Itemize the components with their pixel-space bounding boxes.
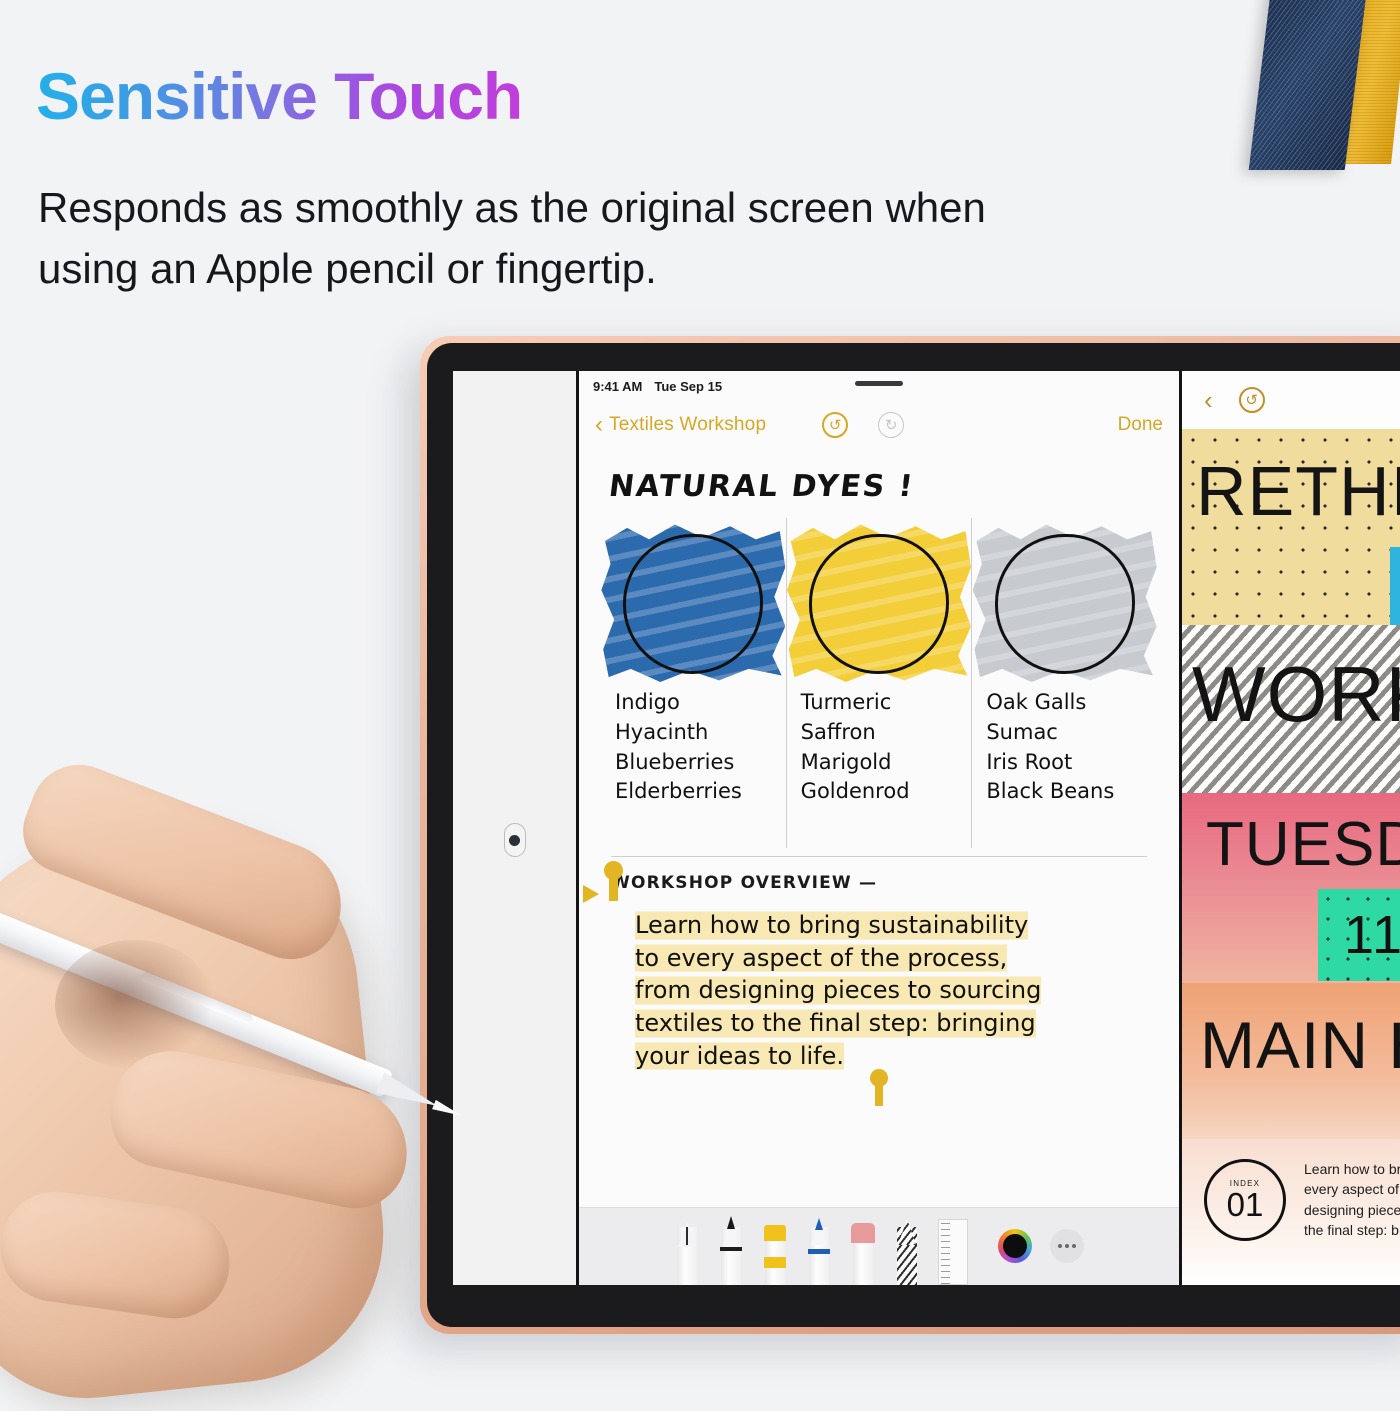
- page-subtitle: Responds as smoothly as the original scr…: [38, 178, 1078, 300]
- section-divider: [611, 856, 1147, 857]
- list-item: Elderberries: [615, 777, 786, 807]
- tuesday-text: TUESDAY: [1206, 809, 1400, 880]
- index-copy-line: Learn how to bring sustainability to: [1304, 1159, 1400, 1179]
- overview-line: textiles to the final step: bringing: [635, 1007, 1036, 1040]
- poster-nav-bar: ‹ ↺: [1182, 371, 1400, 429]
- work-block: WORK: [1182, 625, 1400, 793]
- palm: [0, 809, 398, 1411]
- list-item: Oak Galls: [986, 688, 1157, 718]
- color-picker-button[interactable]: [998, 1229, 1032, 1263]
- note-title[interactable]: Textiles Workshop: [609, 414, 766, 436]
- poster-app-pane: ‹ ↺ RETHINK WORK TUESDAY 11 M: [1179, 371, 1400, 1285]
- index-block: INDEX 01 Learn how to bring sustainabili…: [1182, 1139, 1400, 1285]
- index-copy-line: the final step: bringing your ideas to l…: [1304, 1220, 1400, 1240]
- overview-line: your ideas to life.: [635, 1040, 844, 1073]
- rethink-block: RETHINK: [1182, 429, 1400, 625]
- undo-icon[interactable]: ↺: [1239, 387, 1265, 413]
- tablet-screen: 9:41 AM Tue Sep 15 ‹ Textiles Workshop ↺…: [453, 371, 1400, 1285]
- oakgalls-circle: [987, 528, 1143, 678]
- tablet-device: 9:41 AM Tue Sep 15 ‹ Textiles Workshop ↺…: [420, 336, 1400, 1334]
- oakgalls-list: Oak Galls Sumac Iris Root Black Beans: [972, 688, 1157, 807]
- page-title: Sensitive Touch: [36, 58, 522, 134]
- undo-icon[interactable]: ↺: [822, 412, 848, 438]
- blue-accent-tab: [1390, 547, 1400, 625]
- pencil-tool[interactable]: [894, 1215, 920, 1285]
- work-text: WORK: [1192, 649, 1400, 740]
- index-badge-number: 01: [1227, 1188, 1264, 1221]
- fabric-swatch-decoration: [1270, 0, 1400, 174]
- overview-line: to every aspect of the process,: [635, 942, 1007, 975]
- arrow-marker-icon: [583, 885, 599, 903]
- rethink-text: RETHINK: [1196, 451, 1400, 531]
- ruler-tool[interactable]: [938, 1215, 968, 1285]
- done-button[interactable]: Done: [1118, 414, 1163, 436]
- swatch-row: Indigo Hyacinth Blueberries Elderberries: [601, 518, 1157, 848]
- tablet-bezel: 9:41 AM Tue Sep 15 ‹ Textiles Workshop ↺…: [427, 343, 1400, 1327]
- note-heading: NATURAL DYES !: [607, 469, 1159, 504]
- thumb: [101, 1040, 419, 1218]
- status-time: 9:41 AM: [593, 379, 642, 394]
- index-copy-line: designing pieces to sourcing textiles to: [1304, 1200, 1400, 1220]
- oakgalls-swatch: Oak Galls Sumac Iris Root Black Beans: [971, 518, 1157, 848]
- indigo-circle: [615, 528, 771, 678]
- knuckle-shadow: [55, 940, 215, 1070]
- fountain-pen-tool[interactable]: [674, 1215, 700, 1285]
- turmeric-circle: [801, 528, 957, 678]
- list-item: Marigold: [801, 748, 972, 778]
- mainhall-block: MAIN HALL: [1182, 983, 1400, 1139]
- index-copy: Learn how to bring sustainability to eve…: [1304, 1159, 1400, 1240]
- status-date: Tue Sep 15: [654, 379, 722, 394]
- turmeric-swatch: Turmeric Saffron Marigold Goldenrod: [786, 518, 972, 848]
- list-item: Iris Root: [986, 748, 1157, 778]
- chevron-left-icon[interactable]: ‹: [595, 413, 603, 437]
- list-item: Saffron: [801, 718, 972, 748]
- overview-line: Learn how to bring sustainability: [635, 909, 1028, 942]
- list-item: Turmeric: [801, 688, 972, 718]
- chevron-left-icon[interactable]: ‹: [1204, 385, 1213, 416]
- blue-pen-tool[interactable]: [806, 1215, 832, 1285]
- indigo-list: Indigo Hyacinth Blueberries Elderberries: [601, 688, 786, 807]
- camera-icon: [504, 823, 526, 857]
- device-side-strip: [453, 371, 579, 1285]
- date-chip: 11: [1318, 889, 1400, 981]
- date-chip-number: 11: [1344, 904, 1400, 966]
- list-item: Goldenrod: [801, 777, 972, 807]
- window-grabber[interactable]: [855, 381, 903, 386]
- pin-marker-icon: [609, 875, 618, 901]
- list-item: Sumac: [986, 718, 1157, 748]
- notes-app-pane: 9:41 AM Tue Sep 15 ‹ Textiles Workshop ↺…: [579, 371, 1179, 1285]
- note-canvas[interactable]: NATURAL DYES ! Indigo Hyacinth Blueberri…: [579, 449, 1179, 1285]
- index-badge: INDEX 01: [1204, 1159, 1286, 1241]
- list-item: Black Beans: [986, 777, 1157, 807]
- list-item: Indigo: [615, 688, 786, 718]
- drawing-toolbar: [579, 1207, 1179, 1285]
- overview-text: Learn how to bring sustainability to eve…: [635, 909, 1157, 1072]
- highlighter-tool[interactable]: [762, 1215, 788, 1285]
- index-copy-line: every aspect of the process, from: [1304, 1179, 1400, 1199]
- notes-nav-bar: ‹ Textiles Workshop ↺ ↻ Done: [579, 401, 1179, 449]
- list-item: Hyacinth: [615, 718, 786, 748]
- pen-tool[interactable]: [718, 1215, 744, 1285]
- tuesday-block: TUESDAY 11: [1182, 793, 1400, 983]
- middle-finger: [0, 1185, 237, 1326]
- eraser-tool[interactable]: [850, 1215, 876, 1285]
- pin-marker-icon: [875, 1082, 883, 1106]
- overview-label: WORKSHOP OVERVIEW —: [611, 873, 1157, 893]
- stylus-pencil: [0, 901, 470, 1133]
- overview-line: from designing pieces to sourcing: [635, 974, 1041, 1007]
- turmeric-list: Turmeric Saffron Marigold Goldenrod: [787, 688, 972, 807]
- more-options-button[interactable]: [1050, 1229, 1084, 1263]
- mainhall-text: MAIN HALL: [1200, 1007, 1400, 1083]
- redo-icon[interactable]: ↻: [878, 412, 904, 438]
- status-bar: 9:41 AM Tue Sep 15: [579, 371, 1179, 401]
- indigo-swatch: Indigo Hyacinth Blueberries Elderberries: [601, 518, 786, 848]
- index-finger: [11, 751, 359, 974]
- list-item: Blueberries: [615, 748, 786, 778]
